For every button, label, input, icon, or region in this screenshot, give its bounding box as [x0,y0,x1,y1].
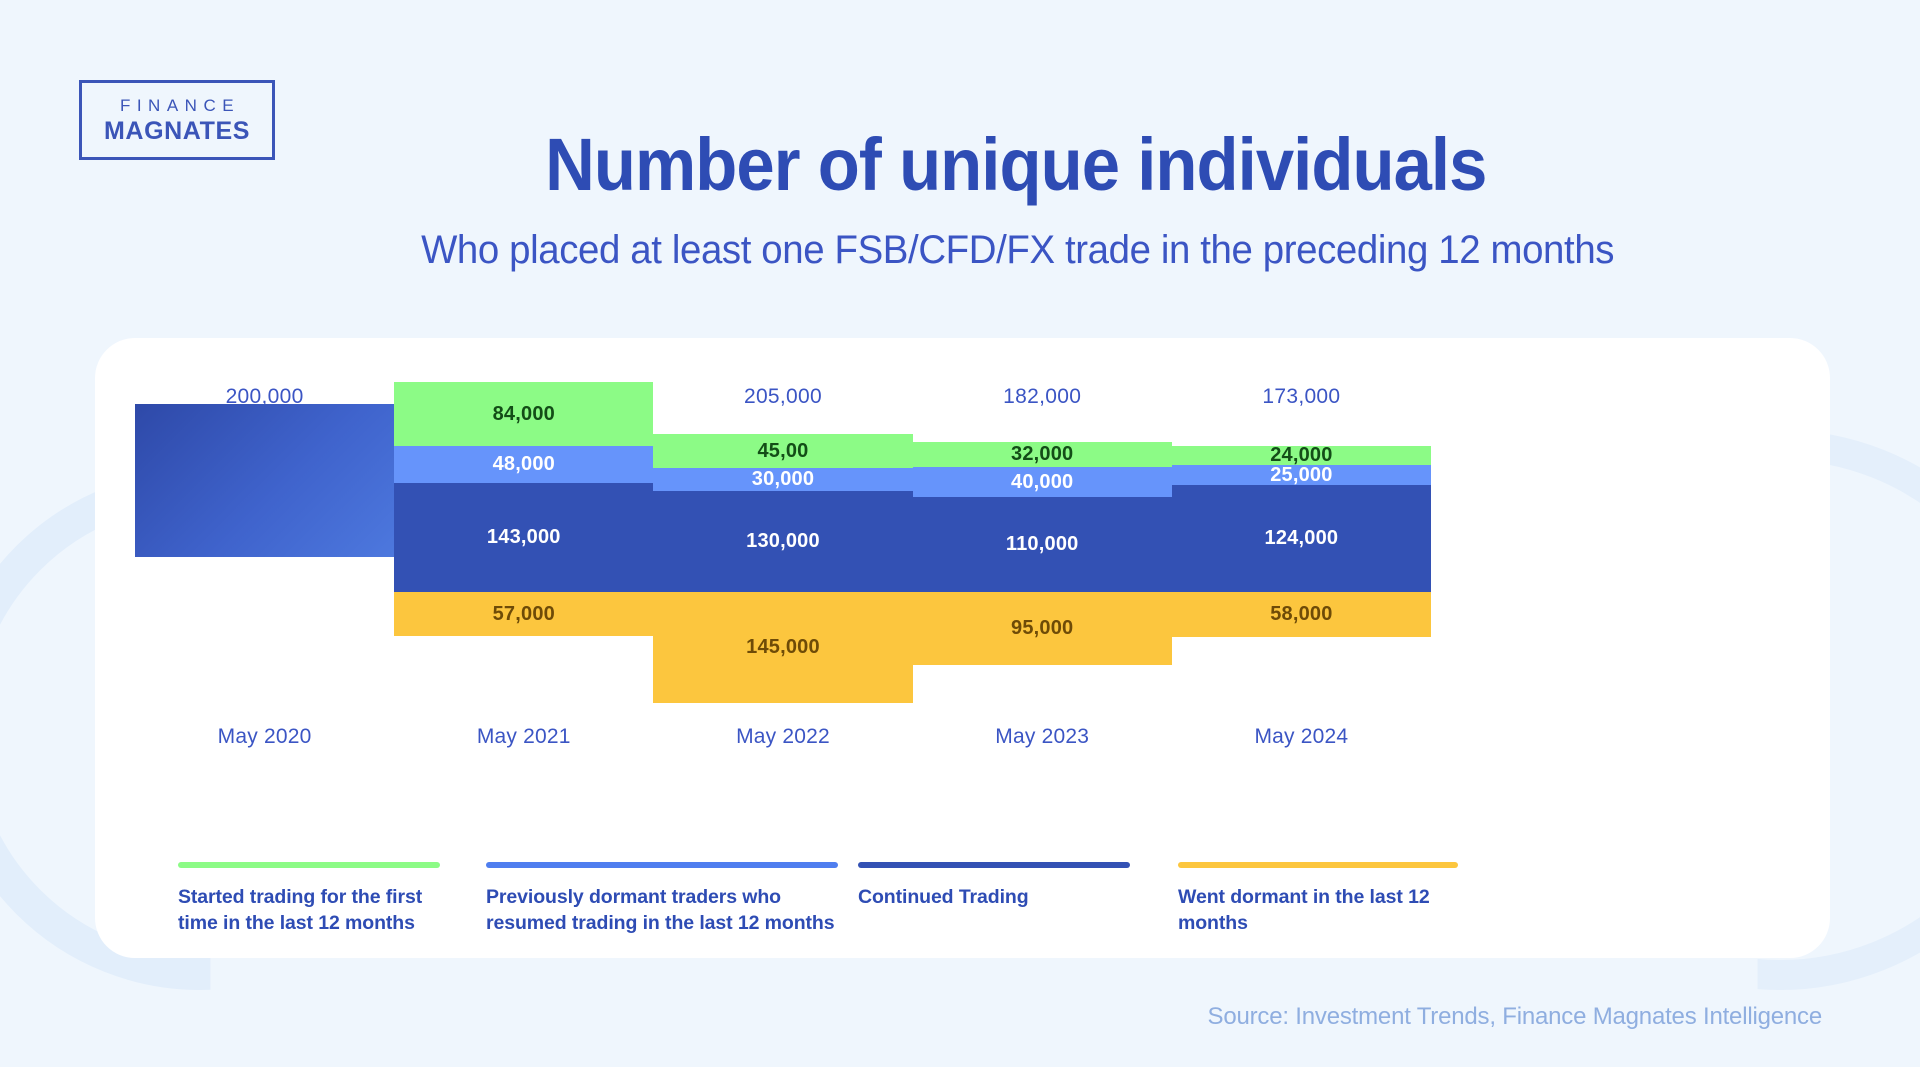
bar-segment-navy: 110,000 [913,497,1172,592]
legend-label: Previously dormant traders who resumed t… [486,885,838,936]
chart-column: 32,00040,000110,00095,000 [913,382,1172,702]
x-axis-label: May 2022 [653,725,912,749]
legend-color-swatch [1178,862,1458,868]
chart-column: 24,00025,000124,00058,000 [1172,382,1431,702]
legend-item[interactable]: Continued Trading [858,862,1130,911]
bar-segment-navy: 124,000 [1172,485,1431,592]
chart-column: 45,0030,000130,000145,000 [653,382,912,702]
x-axis-label: May 2024 [1172,725,1431,749]
bar-segment-blue: 25,000 [1172,465,1431,485]
bar-segment-green: 32,000 [913,442,1172,467]
bar-segment-green: 45,00 [653,434,912,468]
legend-item[interactable]: Previously dormant traders who resumed t… [486,862,838,936]
bar-segment-blue: 30,000 [653,468,912,491]
legend-label: Started trading for the first time in th… [178,885,440,936]
legend-color-swatch [178,862,440,868]
bar-segment-green: 24,000 [1172,446,1431,465]
page-title: Number of unique individuals [67,122,1853,207]
x-axis-label: May 2023 [913,725,1172,749]
x-axis-labels: May 2020May 2021May 2022May 2023May 2024 [135,725,1431,753]
legend-color-swatch [858,862,1130,868]
legend-color-swatch [486,862,838,868]
stacked-bar-chart: 84,00048,000143,00057,00045,0030,000130,… [135,382,1431,702]
chart-column [135,382,394,702]
bar-segment-blue: 48,000 [394,446,653,483]
x-axis-label: May 2020 [135,725,394,749]
bar-segment-blue: 40,000 [913,467,1172,497]
logo-line-finance: FINANCE [114,95,240,118]
x-axis-label: May 2021 [394,725,653,749]
legend-label: Continued Trading [858,885,1130,911]
bar-segment-green: 84,000 [394,382,653,446]
bar-segment-yellow: 58,000 [1172,592,1431,637]
legend-item[interactable]: Went dormant in the last 12 months [1178,862,1458,936]
bar-segment-yellow: 57,000 [394,592,653,636]
chart-column: 84,00048,000143,00057,000 [394,382,653,702]
source-note: Source: Investment Trends, Finance Magna… [1208,1003,1822,1031]
chart-legend: Started trading for the first time in th… [178,862,1758,942]
bar-segment-navy: 130,000 [653,491,912,592]
bar-segment-yellow: 145,000 [653,592,912,703]
page-subtitle: Who placed at least one FSB/CFD/FX trade… [38,228,1881,273]
legend-label: Went dormant in the last 12 months [1178,885,1458,936]
bar-segment-navy: 143,000 [394,483,653,592]
bar-segment-yellow: 95,000 [913,592,1172,665]
legend-item[interactable]: Started trading for the first time in th… [178,862,440,936]
bar-segment-solo [135,404,394,557]
